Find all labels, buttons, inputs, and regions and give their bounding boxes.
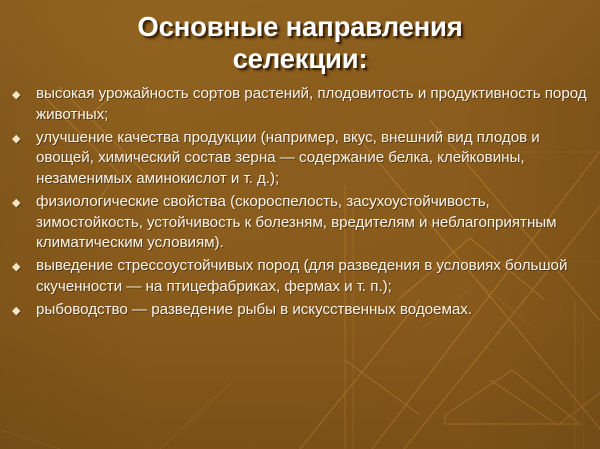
diamond-bullet-icon: ◆ [12,84,36,101]
page-title: Основные направления селекции: [0,11,600,75]
diamond-bullet-icon: ◆ [12,300,36,317]
diamond-bullet-icon: ◆ [12,128,36,145]
diamond-bullet-icon: ◆ [12,192,36,209]
list-item-text: высокая урожайность сортов растений, пло… [36,84,590,125]
list-item: ◆ улучшение качества продукции (например… [12,128,590,190]
list-item-text: улучшение качества продукции (например, … [36,128,590,190]
bullet-list: ◆ высокая урожайность сортов растений, п… [12,84,590,323]
list-item: ◆ рыбоводство — разведение рыбы в искусс… [12,300,590,321]
list-item: ◆ высокая урожайность сортов растений, п… [12,84,590,125]
list-item: ◆ физиологические свойства (скороспелост… [12,192,590,254]
title-line-2: селекции: [30,43,570,75]
list-item-text: выведение стрессоустойчивых пород (для р… [36,256,590,297]
list-item: ◆ выведение стрессоустойчивых пород (для… [12,256,590,297]
list-item-text: физиологические свойства (скороспелость,… [36,192,590,254]
list-item-text: рыбоводство — разведение рыбы в искусств… [36,300,590,321]
diamond-bullet-icon: ◆ [12,256,36,273]
title-line-1: Основные направления [30,11,570,43]
presentation-slide: Основные направления селекции: ◆ высокая… [0,0,600,449]
